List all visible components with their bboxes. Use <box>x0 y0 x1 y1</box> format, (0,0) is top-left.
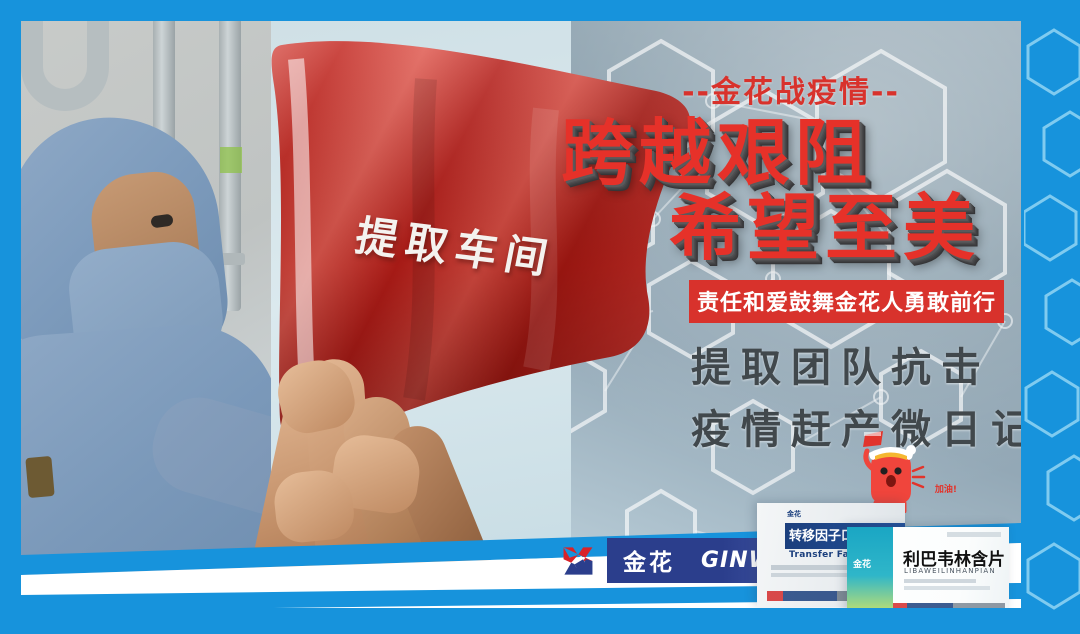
product-box-ribavirin: 金花 利巴韦林含片 LIBAWEILINHANPIAN <box>847 527 1009 613</box>
box2-fine-print <box>904 586 990 590</box>
worker-badge <box>25 456 54 498</box>
box2-title-en: LIBAWEILINHANPIAN <box>904 567 996 575</box>
box2-fine-print <box>904 579 976 583</box>
headline-block: --金花战疫情-- 跨越艰阻 希望至美 责任和爱鼓舞金花人勇敢前行 提取团队抗击… <box>541 67 1011 455</box>
promotional-poster: 提取车间 --金花战疫情-- 跨越艰阻 希望至美 责任和爱鼓舞金花人勇敢前行 提… <box>0 0 1080 634</box>
box2-side-panel <box>847 527 893 613</box>
frame-top-border <box>0 0 1080 18</box>
frame-left-border <box>0 0 18 634</box>
product-boxes: 金花 转移因子口服溶液 Transfer Factor Oral Solutio… <box>751 489 1013 613</box>
red-banner-text: 责任和爱鼓舞金花人勇敢前行 <box>689 280 1004 323</box>
pipe-bend-icon <box>21 21 109 111</box>
poster-stage: 提取车间 --金花战疫情-- 跨越艰阻 希望至美 责任和爱鼓舞金花人勇敢前行 提… <box>21 21 1021 613</box>
brand-name-cn: 金花 <box>623 543 675 577</box>
ginwa-logo-icon <box>561 544 595 578</box>
headline-line-2: 希望至美 <box>669 192 1011 265</box>
subtitle-line-2: 疫情赶产微日记 <box>691 397 1011 455</box>
frame-bottom-border <box>0 608 1080 634</box>
box2-brand-mark: 金花 <box>853 557 871 570</box>
box1-brand-mark: 金花 <box>787 509 801 519</box>
headline-line-1: 跨越艰阻 <box>561 117 1011 190</box>
box2-top-strip <box>947 532 1001 537</box>
kicker-text: --金花战疫情-- <box>571 67 1011 111</box>
frame-hexagon-decor-icon <box>1024 0 1080 634</box>
subtitle-line-1: 提取团队抗击 <box>691 335 1011 393</box>
